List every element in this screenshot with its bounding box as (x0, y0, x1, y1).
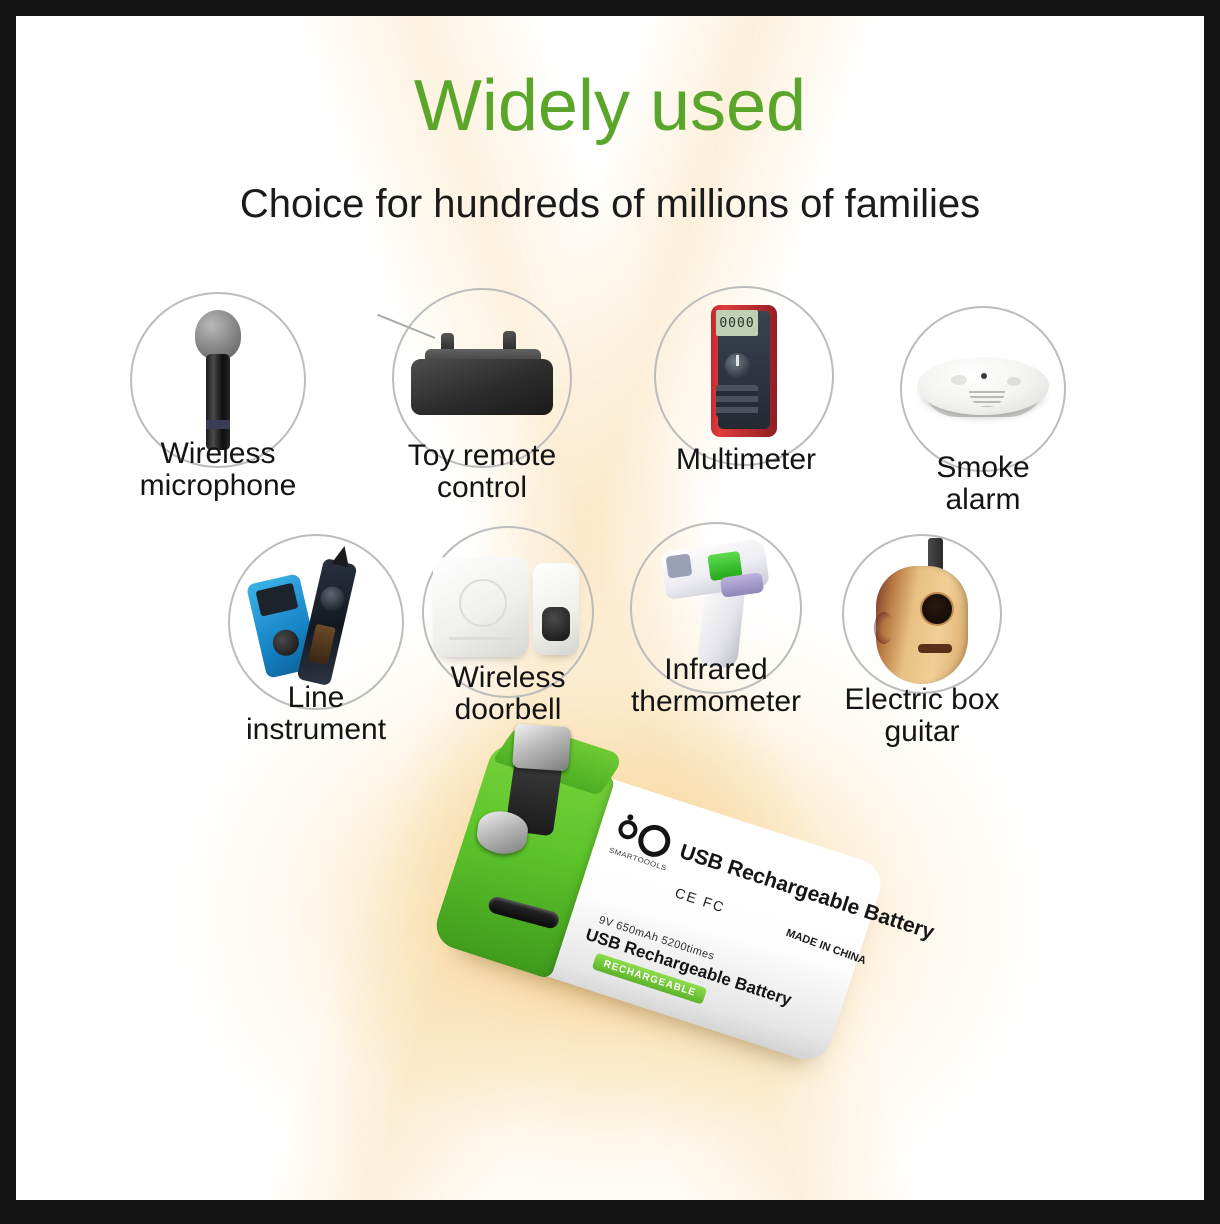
smoke-alarm-icon (900, 306, 1066, 472)
multimeter-display: 0000 (716, 310, 758, 336)
cable-tester-icon (228, 542, 404, 702)
remote-control-icon (392, 292, 572, 462)
device-label: Infrared thermometer (606, 654, 826, 718)
acoustic-guitar-icon (842, 536, 1002, 692)
device-label: Toy remote control (382, 440, 582, 504)
multimeter-icon: 0000 (654, 286, 834, 456)
device-label: Multimeter (646, 444, 846, 476)
device-label: Smoke alarm (888, 452, 1078, 516)
infographic-panel: Widely used Choice for hundreds of milli… (16, 16, 1204, 1200)
product-battery: SMARTOOOLS USB Rechargeable Battery CE F… (414, 738, 884, 1138)
battery-terminal-positive (512, 724, 571, 772)
page-subtitle: Choice for hundreds of millions of famil… (16, 184, 1204, 224)
device-label: Line instrument (210, 682, 422, 746)
page-title: Widely used (16, 70, 1204, 142)
device-label: Wireless microphone (108, 438, 328, 502)
